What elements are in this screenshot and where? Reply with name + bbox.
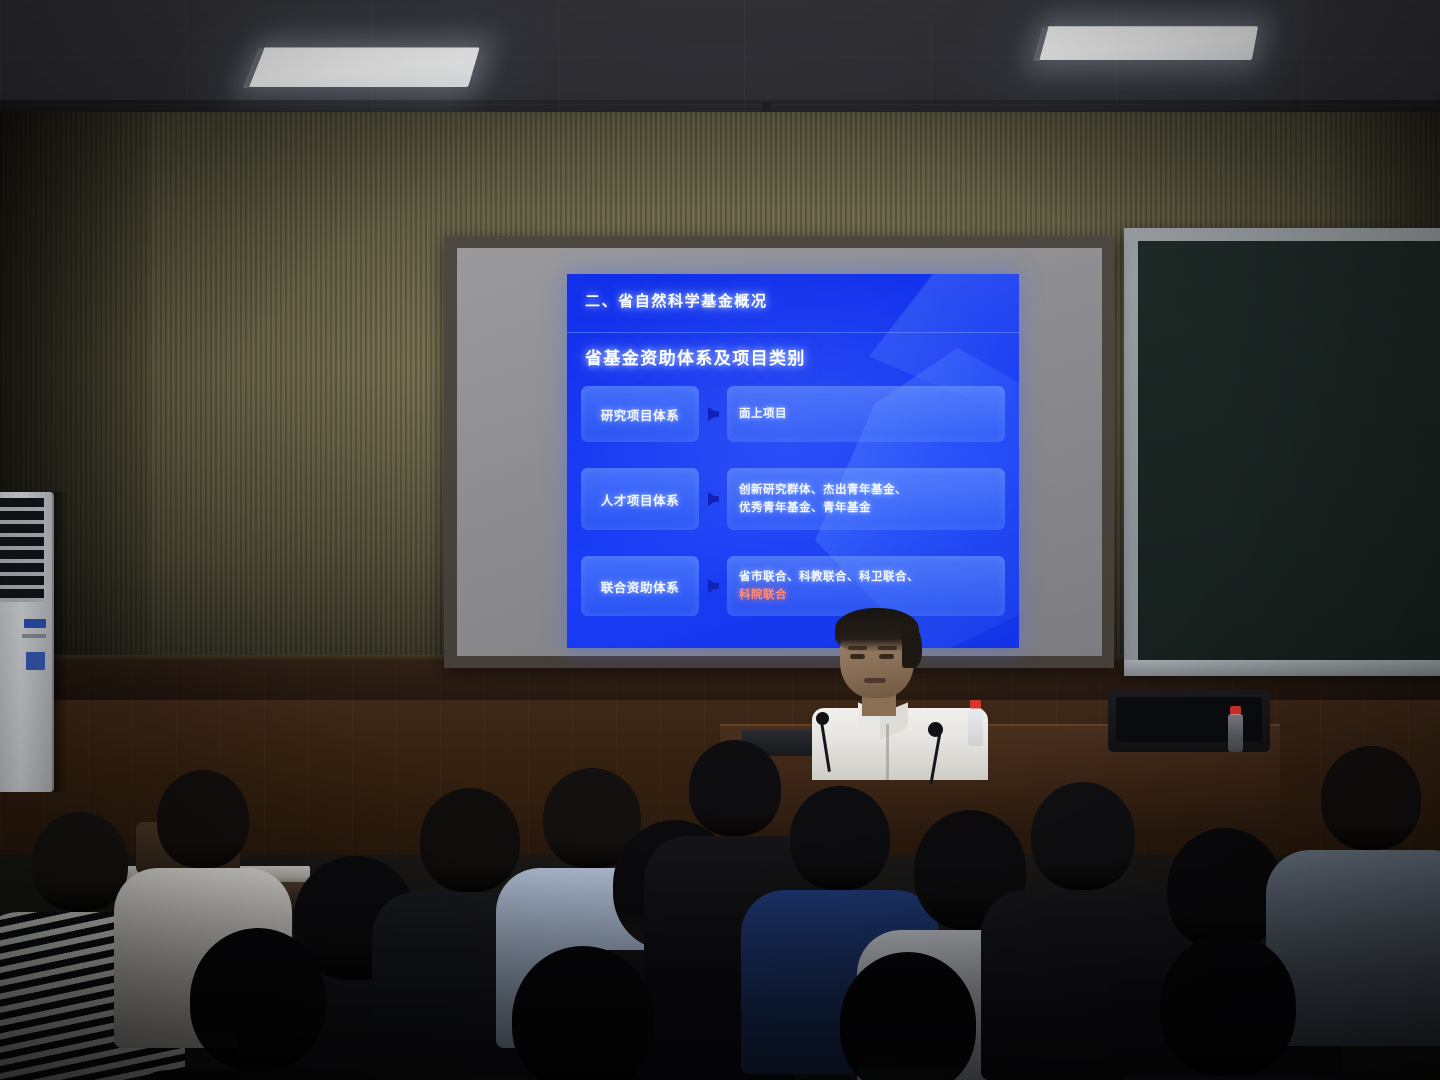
slide-row-accent-text: 科院联合 [739,586,997,604]
blackboard-surface[interactable] [1138,241,1440,660]
slide-row-value: 创新研究群体、杰出青年基金、 优秀青年基金、青年基金 [727,468,1005,530]
water-bottle[interactable] [968,700,983,746]
bottle-body [1228,714,1243,752]
audience-head [1321,746,1421,850]
ac-brand-label [24,619,46,628]
audience-head [190,928,326,1070]
presenter-eyebrow-right [878,646,897,650]
audience-head [790,786,890,890]
ceiling-light-right [1038,26,1258,60]
ac-louvers-icon [0,498,44,602]
arrow-right-icon [699,579,727,593]
ceiling-light-left [248,47,480,87]
audience-head [420,788,520,892]
audience-head [512,946,654,1080]
presenter-eyebrow-left [848,646,867,650]
presentation-slide: 二、省自然科学基金概况 省基金资助体系及项目类别 研究项目体系 面上项目 人才项… [567,274,1019,648]
audience-front-center [470,946,695,1080]
slide-row-value-line: 省市联合、科教联合、科卫联合、 [739,568,997,586]
slide-row-value: 省市联合、科教联合、科卫联合、 科院联合 [727,556,1005,616]
lecture-hall-photo: 二、省自然科学基金概况 省基金资助体系及项目类别 研究项目体系 面上项目 人才项… [0,0,1440,1080]
presenter-eye-right [879,654,894,659]
bottle-body [968,708,983,746]
presenter-eye-left [850,654,865,659]
audience-torso [1094,1076,1362,1080]
slide-divider [567,332,1019,333]
seated-audience [0,660,1440,1080]
slide-section-heading: 二、省自然科学基金概况 [585,290,768,311]
slide-row-value-line: 优秀青年基金、青年基金 [739,499,997,517]
water-bottle[interactable] [1228,706,1243,752]
slide-row: 研究项目体系 面上项目 [581,386,1005,442]
slide-row-value-line: 面上项目 [739,405,997,423]
projection-screen-frame: 二、省自然科学基金概况 省基金资助体系及项目类别 研究项目体系 面上项目 人才项… [444,236,1114,668]
slide-row-label: 研究项目体系 [581,386,699,442]
arrow-right-icon [699,492,727,506]
ceiling-seam [0,104,1440,105]
slide-row-value: 面上项目 [727,386,1005,442]
slide-row: 联合资助体系 省市联合、科教联合、科卫联合、 科院联合 [581,556,1005,616]
slide-row-label: 人才项目体系 [581,468,699,530]
audience-torso [124,1070,392,1080]
audience-head [1031,782,1135,890]
audience-head [157,770,249,868]
slide-row-value-line: 创新研究群体、杰出青年基金、 [739,481,997,499]
blackboard[interactable] [1124,228,1440,676]
audience-head [1160,934,1296,1076]
slide-row: 人才项目体系 创新研究群体、杰出青年基金、 优秀青年基金、青年基金 [581,468,1005,530]
audience-front-right [800,952,1015,1080]
projection-screen-surface: 二、省自然科学基金概况 省基金资助体系及项目类别 研究项目体系 面上项目 人才项… [457,248,1102,656]
slide-row-label: 联合资助体系 [581,556,699,616]
ceiling-tile-grid [0,0,1440,120]
audience-front-far-right [1120,934,1335,1080]
slide-diagram: 研究项目体系 面上项目 人才项目体系 创新研究群体、杰出青年基金、 优秀青年基金… [581,386,1005,642]
audience-front-left [150,928,365,1080]
audience-head [32,812,128,912]
ceiling [0,0,1440,120]
arrow-right-icon [699,407,727,421]
audience-head [840,952,976,1080]
slide-subtitle: 省基金资助体系及项目类别 [585,344,806,369]
ac-text-strip [22,634,46,638]
